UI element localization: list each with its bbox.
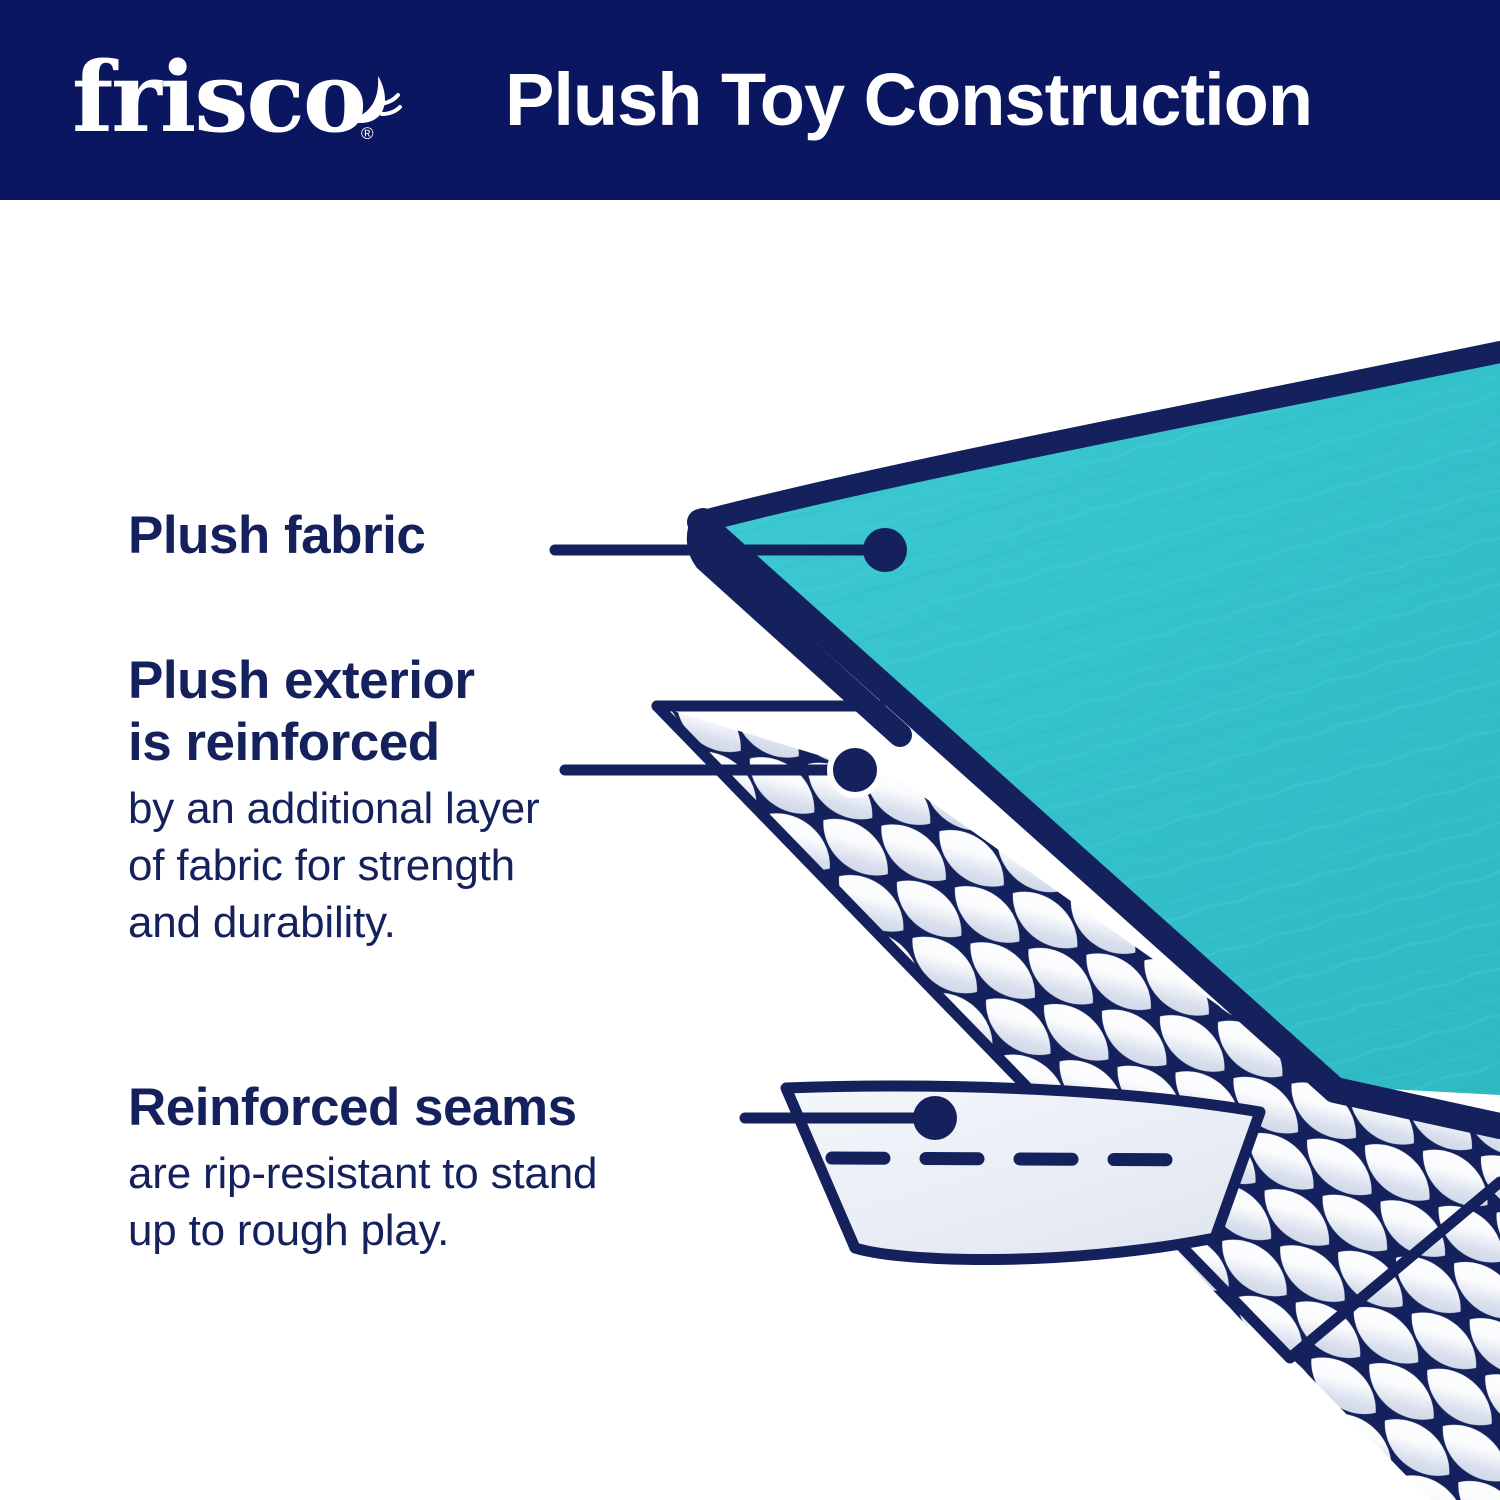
leader-dot-reinforced-seams <box>913 1096 957 1140</box>
callout-heading: Reinforced seams <box>128 1077 597 1139</box>
callout-plush-exterior: Plush exterior is reinforced by an addit… <box>128 650 539 951</box>
callout-reinforced-seams: Reinforced seams are rip-resistant to st… <box>128 1077 597 1259</box>
seam-flap <box>786 1086 1260 1259</box>
callout-body: are rip-resistant to stand up to rough p… <box>128 1145 597 1259</box>
registered-trademark-icon: ® <box>361 124 374 144</box>
callout-plush-fabric: Plush fabric <box>128 505 425 567</box>
leader-dot-plush-exterior <box>830 745 880 795</box>
leader-lines <box>555 528 957 1140</box>
callout-heading: Plush exterior is reinforced <box>128 650 539 774</box>
callout-heading: Plush fabric <box>128 505 425 567</box>
reinforcement-mesh-layer <box>600 650 1500 1500</box>
callout-body: by an additional layer of fabric for str… <box>128 780 539 951</box>
brand-wordmark: frisco <box>72 46 365 150</box>
stitch-line <box>832 1158 1205 1160</box>
page-title: Plush Toy Construction <box>505 52 1312 148</box>
logo-swoosh-icon <box>322 70 402 132</box>
header-bar: frisco ® Plush Toy Construction <box>0 0 1500 200</box>
infographic-page: frisco ® Plush Toy Construction <box>0 0 1500 1500</box>
frisco-logo: frisco ® <box>72 46 382 156</box>
leader-dot-plush-fabric <box>863 528 907 572</box>
plush-fabric-panel <box>690 352 1500 1126</box>
